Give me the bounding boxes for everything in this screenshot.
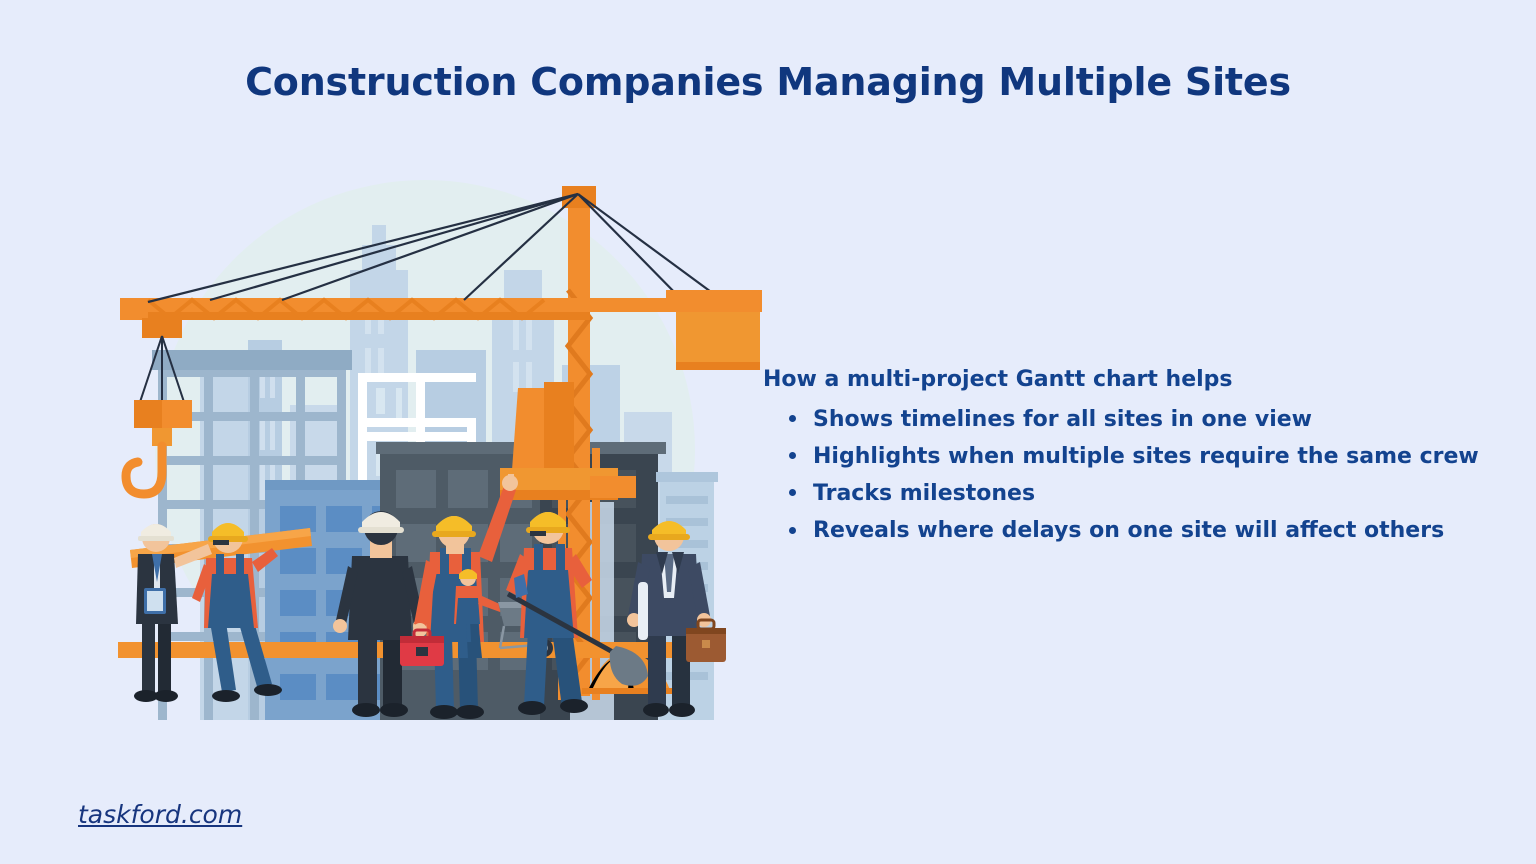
construction-site-illustration (100, 150, 780, 720)
benefits-heading: How a multi-project Gantt chart helps (763, 366, 1533, 395)
benefits-block: How a multi-project Gantt chart helps Sh… (763, 366, 1533, 549)
list-item-label: Highlights when multiple sites require t… (813, 444, 1479, 469)
bullet-icon (789, 415, 796, 422)
list-item: Reveals where delays on one site will af… (763, 512, 1533, 549)
list-item-label: Shows timelines for all sites in one vie… (813, 407, 1312, 432)
counterweight-block (666, 290, 762, 370)
benefits-list: Shows timelines for all sites in one vie… (763, 401, 1533, 550)
list-item: Shows timelines for all sites in one vie… (763, 401, 1533, 438)
list-item: Tracks milestones (763, 475, 1533, 512)
list-item-label: Tracks milestones (813, 481, 1035, 506)
slide-root: Construction Companies Managing Multiple… (0, 0, 1536, 864)
bullet-icon (789, 452, 796, 459)
page-title: Construction Companies Managing Multiple… (0, 60, 1536, 104)
bullet-icon (789, 527, 796, 534)
list-item-label: Reveals where delays on one site will af… (813, 518, 1444, 543)
list-item: Highlights when multiple sites require t… (763, 438, 1533, 475)
bullet-icon (789, 489, 796, 496)
footer-website-link[interactable]: taskford.com (78, 800, 242, 829)
